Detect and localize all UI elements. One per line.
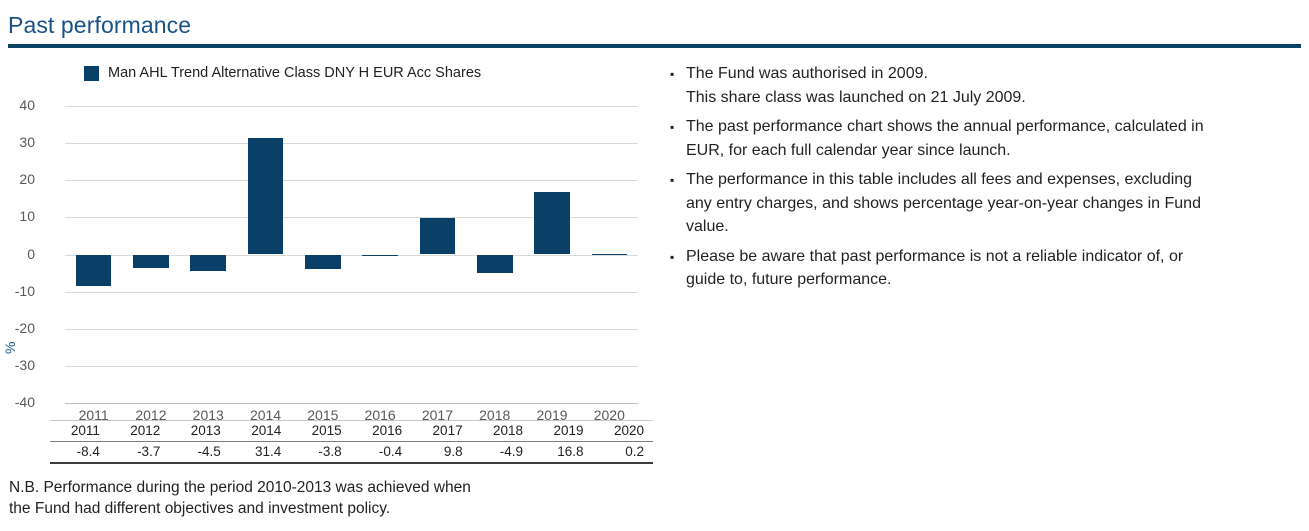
- bullet-icon: ▪: [670, 245, 686, 292]
- bar-2017: [420, 218, 456, 254]
- bar-2012: [133, 255, 169, 269]
- footnote-line-2: the Fund had different objectives and in…: [9, 498, 629, 519]
- table-header-row: 2011201220132014201520162017201820192020: [50, 421, 653, 442]
- table-return-cell: 9.8: [411, 442, 471, 464]
- note-line: EUR, for each full calendar year since l…: [686, 139, 1204, 163]
- note-line: guide to, future performance.: [686, 268, 1183, 292]
- bar-2019: [534, 192, 570, 254]
- plot-area: 403020100-10-20-30-40: [65, 106, 638, 403]
- note-line: The Fund was authorised in 2009.: [686, 62, 1026, 86]
- table-year-header: 2017: [411, 421, 471, 442]
- table-return-cell: 0.2: [593, 442, 654, 464]
- bar-2013: [190, 255, 226, 272]
- y-axis-tick-label: 0: [0, 246, 35, 262]
- table-year-header: 2011: [50, 421, 109, 442]
- table-return-cell: -4.5: [169, 442, 229, 464]
- table-year-header: 2020: [593, 421, 654, 442]
- y-axis-tick-label: 30: [0, 134, 35, 150]
- note-line: This share class was launched on 21 July…: [686, 86, 1026, 110]
- table-year-header: 2014: [230, 421, 290, 442]
- table-return-cell: -3.8: [290, 442, 350, 464]
- y-axis-tick-label: 40: [0, 97, 35, 113]
- note-text: The past performance chart shows the ann…: [686, 115, 1204, 162]
- table-return-cell: 31.4: [230, 442, 290, 464]
- title-divider: [8, 44, 1301, 48]
- note-line: The performance in this table includes a…: [686, 168, 1201, 192]
- bar-2014: [248, 138, 284, 255]
- bar-2015: [305, 255, 341, 269]
- performance-table: 2011201220132014201520162017201820192020…: [50, 420, 653, 464]
- notes-list: ▪The Fund was authorised in 2009.This sh…: [670, 62, 1300, 298]
- table-year-header: 2012: [109, 421, 169, 442]
- bar-2018: [477, 255, 513, 273]
- bullet-icon: ▪: [670, 115, 686, 162]
- gridline: [65, 366, 638, 367]
- legend-color-swatch: [84, 66, 99, 81]
- footnote-line-1: N.B. Performance during the period 2010-…: [9, 477, 629, 498]
- table-return-cell: -3.7: [109, 442, 169, 464]
- table-return-cell: -0.4: [351, 442, 411, 464]
- note-line: value.: [686, 215, 1201, 239]
- y-axis-tick-label: -40: [0, 394, 35, 410]
- chart-footnote: N.B. Performance during the period 2010-…: [9, 477, 629, 519]
- bullet-icon: ▪: [670, 62, 686, 109]
- y-axis-tick-label: 20: [0, 171, 35, 187]
- past-performance-chart: Man AHL Trend Alternative Class DNY H EU…: [0, 56, 660, 476]
- note-item: ▪The past performance chart shows the an…: [670, 115, 1300, 162]
- note-line: The past performance chart shows the ann…: [686, 115, 1204, 139]
- table-year-header: 2019: [532, 421, 592, 442]
- table-year-header: 2015: [290, 421, 350, 442]
- y-axis-tick-label: 10: [0, 208, 35, 224]
- legend-label: Man AHL Trend Alternative Class DNY H EU…: [108, 65, 481, 81]
- note-text: The Fund was authorised in 2009.This sha…: [686, 62, 1026, 109]
- note-item: ▪Please be aware that past performance i…: [670, 245, 1300, 292]
- x-axis-line: [65, 403, 638, 404]
- gridline: [65, 106, 638, 107]
- table-return-cell: -8.4: [50, 442, 109, 464]
- page-title: Past performance: [8, 12, 191, 39]
- table-row: -8.4-3.7-4.531.4-3.8-0.49.8-4.916.80.2: [50, 442, 653, 464]
- bar-2016: [362, 255, 398, 256]
- table-return-cell: 16.8: [532, 442, 592, 464]
- plot-wrapper: % 403020100-10-20-30-40 2011201220132014…: [0, 96, 660, 416]
- table-year-header: 2013: [169, 421, 229, 442]
- note-line: Please be aware that past performance is…: [686, 245, 1183, 269]
- note-text: Please be aware that past performance is…: [686, 245, 1183, 292]
- bar-2020: [592, 254, 628, 255]
- y-axis-tick-label: -20: [0, 320, 35, 336]
- gridline: [65, 329, 638, 330]
- table-year-header: 2016: [351, 421, 411, 442]
- gridline: [65, 180, 638, 181]
- bullet-icon: ▪: [670, 168, 686, 239]
- bar-2011: [76, 255, 112, 286]
- note-text: The performance in this table includes a…: [686, 168, 1201, 239]
- table-return-cell: -4.9: [472, 442, 532, 464]
- note-line: any entry charges, and shows percentage …: [686, 192, 1201, 216]
- chart-legend: Man AHL Trend Alternative Class DNY H EU…: [84, 65, 481, 81]
- gridline: [65, 292, 638, 293]
- table-year-header: 2018: [472, 421, 532, 442]
- note-item: ▪The Fund was authorised in 2009.This sh…: [670, 62, 1300, 109]
- y-axis-tick-label: -10: [0, 283, 35, 299]
- y-axis-tick-label: -30: [0, 357, 35, 373]
- note-item: ▪The performance in this table includes …: [670, 168, 1300, 239]
- gridline: [65, 143, 638, 144]
- y-axis-title: %: [2, 342, 18, 354]
